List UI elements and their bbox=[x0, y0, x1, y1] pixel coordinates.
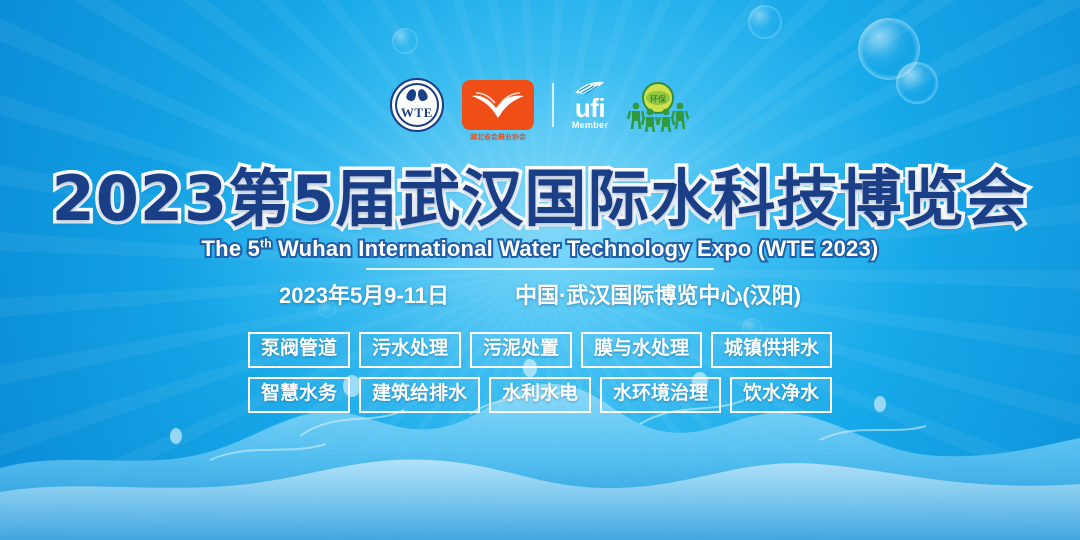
ufi-logo-label: ufi bbox=[575, 97, 605, 120]
category-tags: 泵阀管道 污水处理 污泥处置 膜与水处理 城镇供排水 智慧水务 建筑给排水 水利… bbox=[0, 332, 1080, 422]
event-meta: 2023年5月9-11日 中国·武汉国际博览中心(汉阳) bbox=[0, 278, 1080, 310]
event-venue: 中国·武汉国际博览中心(汉阳) bbox=[515, 278, 801, 310]
svg-text:环保: 环保 bbox=[650, 94, 666, 104]
water-drops-icon bbox=[392, 89, 442, 103]
wte-logo: WTE bbox=[390, 78, 444, 132]
ufi-member-label: Member bbox=[572, 120, 608, 130]
category-tag[interactable]: 建筑给排水 bbox=[359, 377, 480, 413]
drop-icon bbox=[416, 88, 429, 102]
ufi-logo: ufi Member bbox=[572, 80, 608, 130]
subtitle-post: Wuhan International Water Technology Exp… bbox=[272, 236, 879, 261]
exhibition-association-caption: 湖北省会展业协会 bbox=[462, 132, 534, 142]
event-date: 2023年5月9-11日 bbox=[279, 278, 449, 310]
category-tag[interactable]: 水环境治理 bbox=[600, 377, 721, 413]
expo-banner: WTE 湖北省会展业协会 ufi Member bbox=[0, 0, 1080, 540]
logo-divider bbox=[552, 83, 554, 127]
category-tag-row-2: 智慧水务 建筑给排水 水利水电 水环境治理 饮水净水 bbox=[0, 377, 1080, 413]
category-tag[interactable]: 饮水净水 bbox=[730, 377, 832, 413]
category-tag[interactable]: 污泥处置 bbox=[470, 332, 572, 368]
title-divider bbox=[366, 268, 714, 270]
green-people-icon: 环保 bbox=[626, 78, 690, 132]
green-environment-logo: 环保 bbox=[626, 78, 690, 132]
category-tag[interactable]: 智慧水务 bbox=[248, 377, 350, 413]
wings-icon bbox=[470, 90, 526, 120]
category-tag[interactable]: 污水处理 bbox=[359, 332, 461, 368]
category-tag[interactable]: 泵阀管道 bbox=[248, 332, 350, 368]
category-tag-row-1: 泵阀管道 污水处理 污泥处置 膜与水处理 城镇供排水 bbox=[0, 332, 1080, 368]
logo-strip: WTE 湖北省会展业协会 ufi Member bbox=[0, 78, 1080, 132]
wte-logo-label: WTE bbox=[392, 105, 442, 121]
category-tag[interactable]: 城镇供排水 bbox=[711, 332, 832, 368]
page-subtitle: The 5th Wuhan International Water Techno… bbox=[0, 236, 1080, 262]
subtitle-ordinal: th bbox=[260, 237, 272, 251]
subtitle-pre: The 5 bbox=[202, 236, 260, 261]
banner-content: WTE 湖北省会展业协会 ufi Member bbox=[0, 0, 1080, 540]
category-tag[interactable]: 水利水电 bbox=[489, 377, 591, 413]
exhibition-association-logo: 湖北省会展业协会 bbox=[462, 80, 534, 130]
drop-icon bbox=[405, 88, 418, 102]
page-title: 2023第5届武汉国际水科技博览会 bbox=[0, 168, 1080, 230]
category-tag[interactable]: 膜与水处理 bbox=[581, 332, 702, 368]
